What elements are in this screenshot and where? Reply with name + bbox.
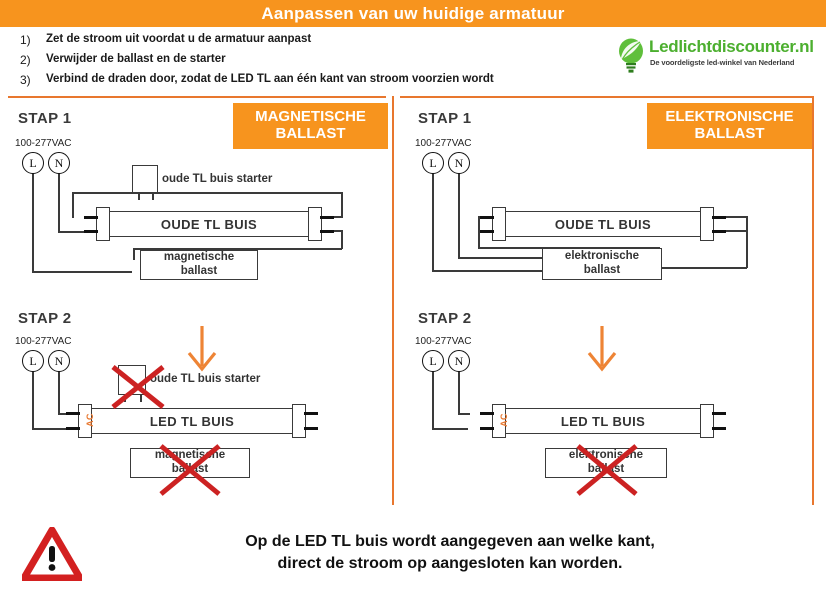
left-step2-title: STAP 2 (18, 310, 72, 327)
left-step1-tube-cap-left (96, 207, 110, 241)
left-step1-starter-left-riser (72, 192, 74, 218)
intro-step-3: 3) Verbind de draden door, zodat de LED … (0, 73, 494, 87)
right-step2-wire-N-to-pin (458, 413, 470, 415)
intro-step-1: 1) Zet de stroom uit voordat u de armatu… (0, 33, 311, 47)
right-step1-pin-bottom-right (712, 230, 726, 233)
warning-message: Op de LED TL buis wordt aangegeven aan w… (130, 531, 770, 575)
right-step1-tube-label: OUDE TL BUIS (555, 217, 651, 232)
logo-name: Ledlichtdiscounter.nl (649, 37, 814, 57)
intro-step-1-text: Zet de stroom uit voordat u de armatuur … (46, 33, 311, 45)
right-step2-pin-top-left (480, 412, 494, 415)
right-step1-tube-cap-right (700, 207, 714, 241)
right-step1-pin-bottom-left (480, 230, 494, 233)
left-step1-starter-box (132, 165, 158, 193)
right-step2-ballast-removed-x-icon (572, 440, 642, 500)
warning-line-1: Op de LED TL buis wordt aangegeven aan w… (130, 531, 770, 553)
intro-step-2-text: Verwijder de ballast en de starter (46, 53, 226, 65)
left-step2-ac-label: AC (85, 413, 95, 427)
right-step1-wire-N-vertical (458, 173, 460, 258)
left-step1-ballast-left-drop (133, 248, 135, 260)
page-title: Aanpassen van uw huidige armatuur (261, 4, 564, 24)
right-step2-wire-L-to-pin (432, 428, 468, 430)
badge-right-line2: BALLAST (695, 126, 765, 143)
right-step1-right-riser (746, 216, 748, 268)
left-step1-ballast-line1: magnetische (164, 251, 234, 265)
left-step1-pin-bottom-left (84, 230, 98, 233)
right-step2-tube-label: LED TL BUIS (561, 414, 645, 429)
left-step2-starter-removed-x-icon (108, 362, 168, 412)
left-step2-voltage: 100-277VAC (15, 336, 72, 347)
left-step2-down-arrow-icon (182, 324, 222, 374)
left-step1-tube: OUDE TL BUIS (108, 211, 310, 237)
left-step1-starter-leg-a (138, 193, 140, 200)
right-step1-pin-top-left (480, 216, 494, 219)
left-step1-pin-top-left (84, 216, 98, 219)
right-step1-voltage: 100-277VAC (415, 138, 472, 149)
left-step1-title: STAP 1 (18, 110, 72, 127)
left-step1-ballast-box: magnetische ballast (140, 250, 258, 280)
left-step1-wire-L-vertical (32, 173, 34, 272)
right-step2-terminal-N: N (448, 350, 470, 372)
intro-step-3-number: 3) (0, 73, 46, 87)
left-step1-right-return-riser (341, 230, 343, 249)
leaf-bulb-icon (617, 38, 647, 74)
left-step1-starter-label: oude TL buis starter (162, 173, 272, 185)
right-step1-ballast-box: elektronische ballast (542, 248, 662, 280)
left-step1-starter-right-riser (341, 192, 343, 218)
left-step1-right-pin-top-lead (333, 216, 342, 218)
right-step2-pin-bottom-left (480, 427, 494, 430)
badge-left-line1: MAGNETISCHE (255, 109, 366, 126)
intro-step-3-text: Verbind de draden door, zodat de LED TL … (46, 73, 494, 85)
right-step2-wire-N-vertical (458, 371, 460, 414)
intro-step-2-number: 2) (0, 53, 46, 67)
right-step2-pin-bottom-right (712, 427, 726, 430)
left-step1-starter-leg-b (152, 193, 154, 200)
warning-line-2: direct de stroom op aangesloten kan word… (130, 553, 770, 575)
right-step1-pin-top-right (712, 216, 726, 219)
right-step1-wire-N-to-ballast (458, 257, 542, 259)
left-step2-tube-cap-right (292, 404, 306, 438)
left-step1-starter-top-wire (72, 192, 342, 194)
right-step2-tube: LED TL BUIS (504, 408, 702, 434)
right-step1-terminal-L: L (422, 152, 444, 174)
right-step1-tube: OUDE TL BUIS (504, 211, 702, 237)
left-step1-ballast-line2: ballast (164, 265, 234, 279)
brand-logo[interactable]: Ledlichtdiscounter.nl De voordeligste le… (617, 38, 817, 80)
left-step2-pin-top-left (66, 412, 80, 415)
right-step1-right-to-ballast (658, 267, 747, 269)
left-step1-tube-cap-right (308, 207, 322, 241)
left-panel-top-rule (8, 96, 386, 98)
right-step1-wire-L-bottom (432, 270, 542, 272)
badge-left-line2: BALLAST (276, 126, 346, 143)
intro-step-1-number: 1) (0, 33, 46, 47)
left-step1-wire-L-bottom (32, 271, 132, 273)
left-step2-wire-L-vertical (32, 371, 34, 429)
warning-triangle-icon (22, 527, 82, 581)
right-step1-ballast-line2: ballast (565, 264, 639, 278)
badge-magnetische-ballast: MAGNETISCHE BALLAST (233, 103, 388, 149)
left-step1-pin-top-right (320, 216, 334, 219)
right-step2-ac-label: AC (499, 413, 509, 427)
right-panel-edge (812, 96, 814, 505)
center-divider (392, 96, 394, 505)
left-step1-terminal-L: L (22, 152, 44, 174)
right-step2-pin-top-right (712, 412, 726, 415)
right-step1-terminal-N: N (448, 152, 470, 174)
left-step2-tube-label: LED TL BUIS (150, 414, 234, 429)
left-step2-pin-top-right (304, 412, 318, 415)
left-step2-wire-N-vertical (58, 371, 60, 414)
right-step1-right-top-lead (725, 216, 747, 218)
left-step2-pin-bottom-right (304, 427, 318, 430)
right-step2-down-arrow-icon (582, 324, 622, 374)
left-step1-terminal-N: N (48, 152, 70, 174)
left-step2-ballast-removed-x-icon (155, 440, 225, 500)
right-step1-title: STAP 1 (418, 110, 472, 127)
left-step2-terminal-N: N (48, 350, 70, 372)
right-step1-ballast-line1: elektronische (565, 250, 639, 264)
right-step2-terminal-L: L (422, 350, 444, 372)
intro-step-2: 2) Verwijder de ballast en de starter (0, 53, 226, 67)
right-step2-wire-L-vertical (432, 371, 434, 429)
right-step2-voltage: 100-277VAC (415, 336, 472, 347)
right-step1-tube-cap-left (492, 207, 506, 241)
left-step1-wire-N-vertical (58, 173, 60, 232)
badge-right-line1: ELEKTRONISCHE (665, 109, 793, 126)
right-step1-right-bottom-lead (725, 230, 747, 232)
right-step1-wire-L-vertical (432, 173, 434, 271)
logo-tagline: De voordeligste led-winkel van Nederland (650, 58, 794, 67)
left-step1-tube-label: OUDE TL BUIS (161, 217, 257, 232)
right-panel-top-rule (400, 96, 814, 98)
right-step2-tube-cap-right (700, 404, 714, 438)
left-step2-pin-bottom-left (66, 427, 80, 430)
badge-elektronische-ballast: ELEKTRONISCHE BALLAST (647, 103, 812, 149)
header-banner: Aanpassen van uw huidige armatuur (0, 0, 826, 27)
left-step1-pin-bottom-right (320, 230, 334, 233)
left-step1-voltage: 100-277VAC (15, 138, 72, 149)
right-step2-title: STAP 2 (418, 310, 472, 327)
left-step2-terminal-L: L (22, 350, 44, 372)
